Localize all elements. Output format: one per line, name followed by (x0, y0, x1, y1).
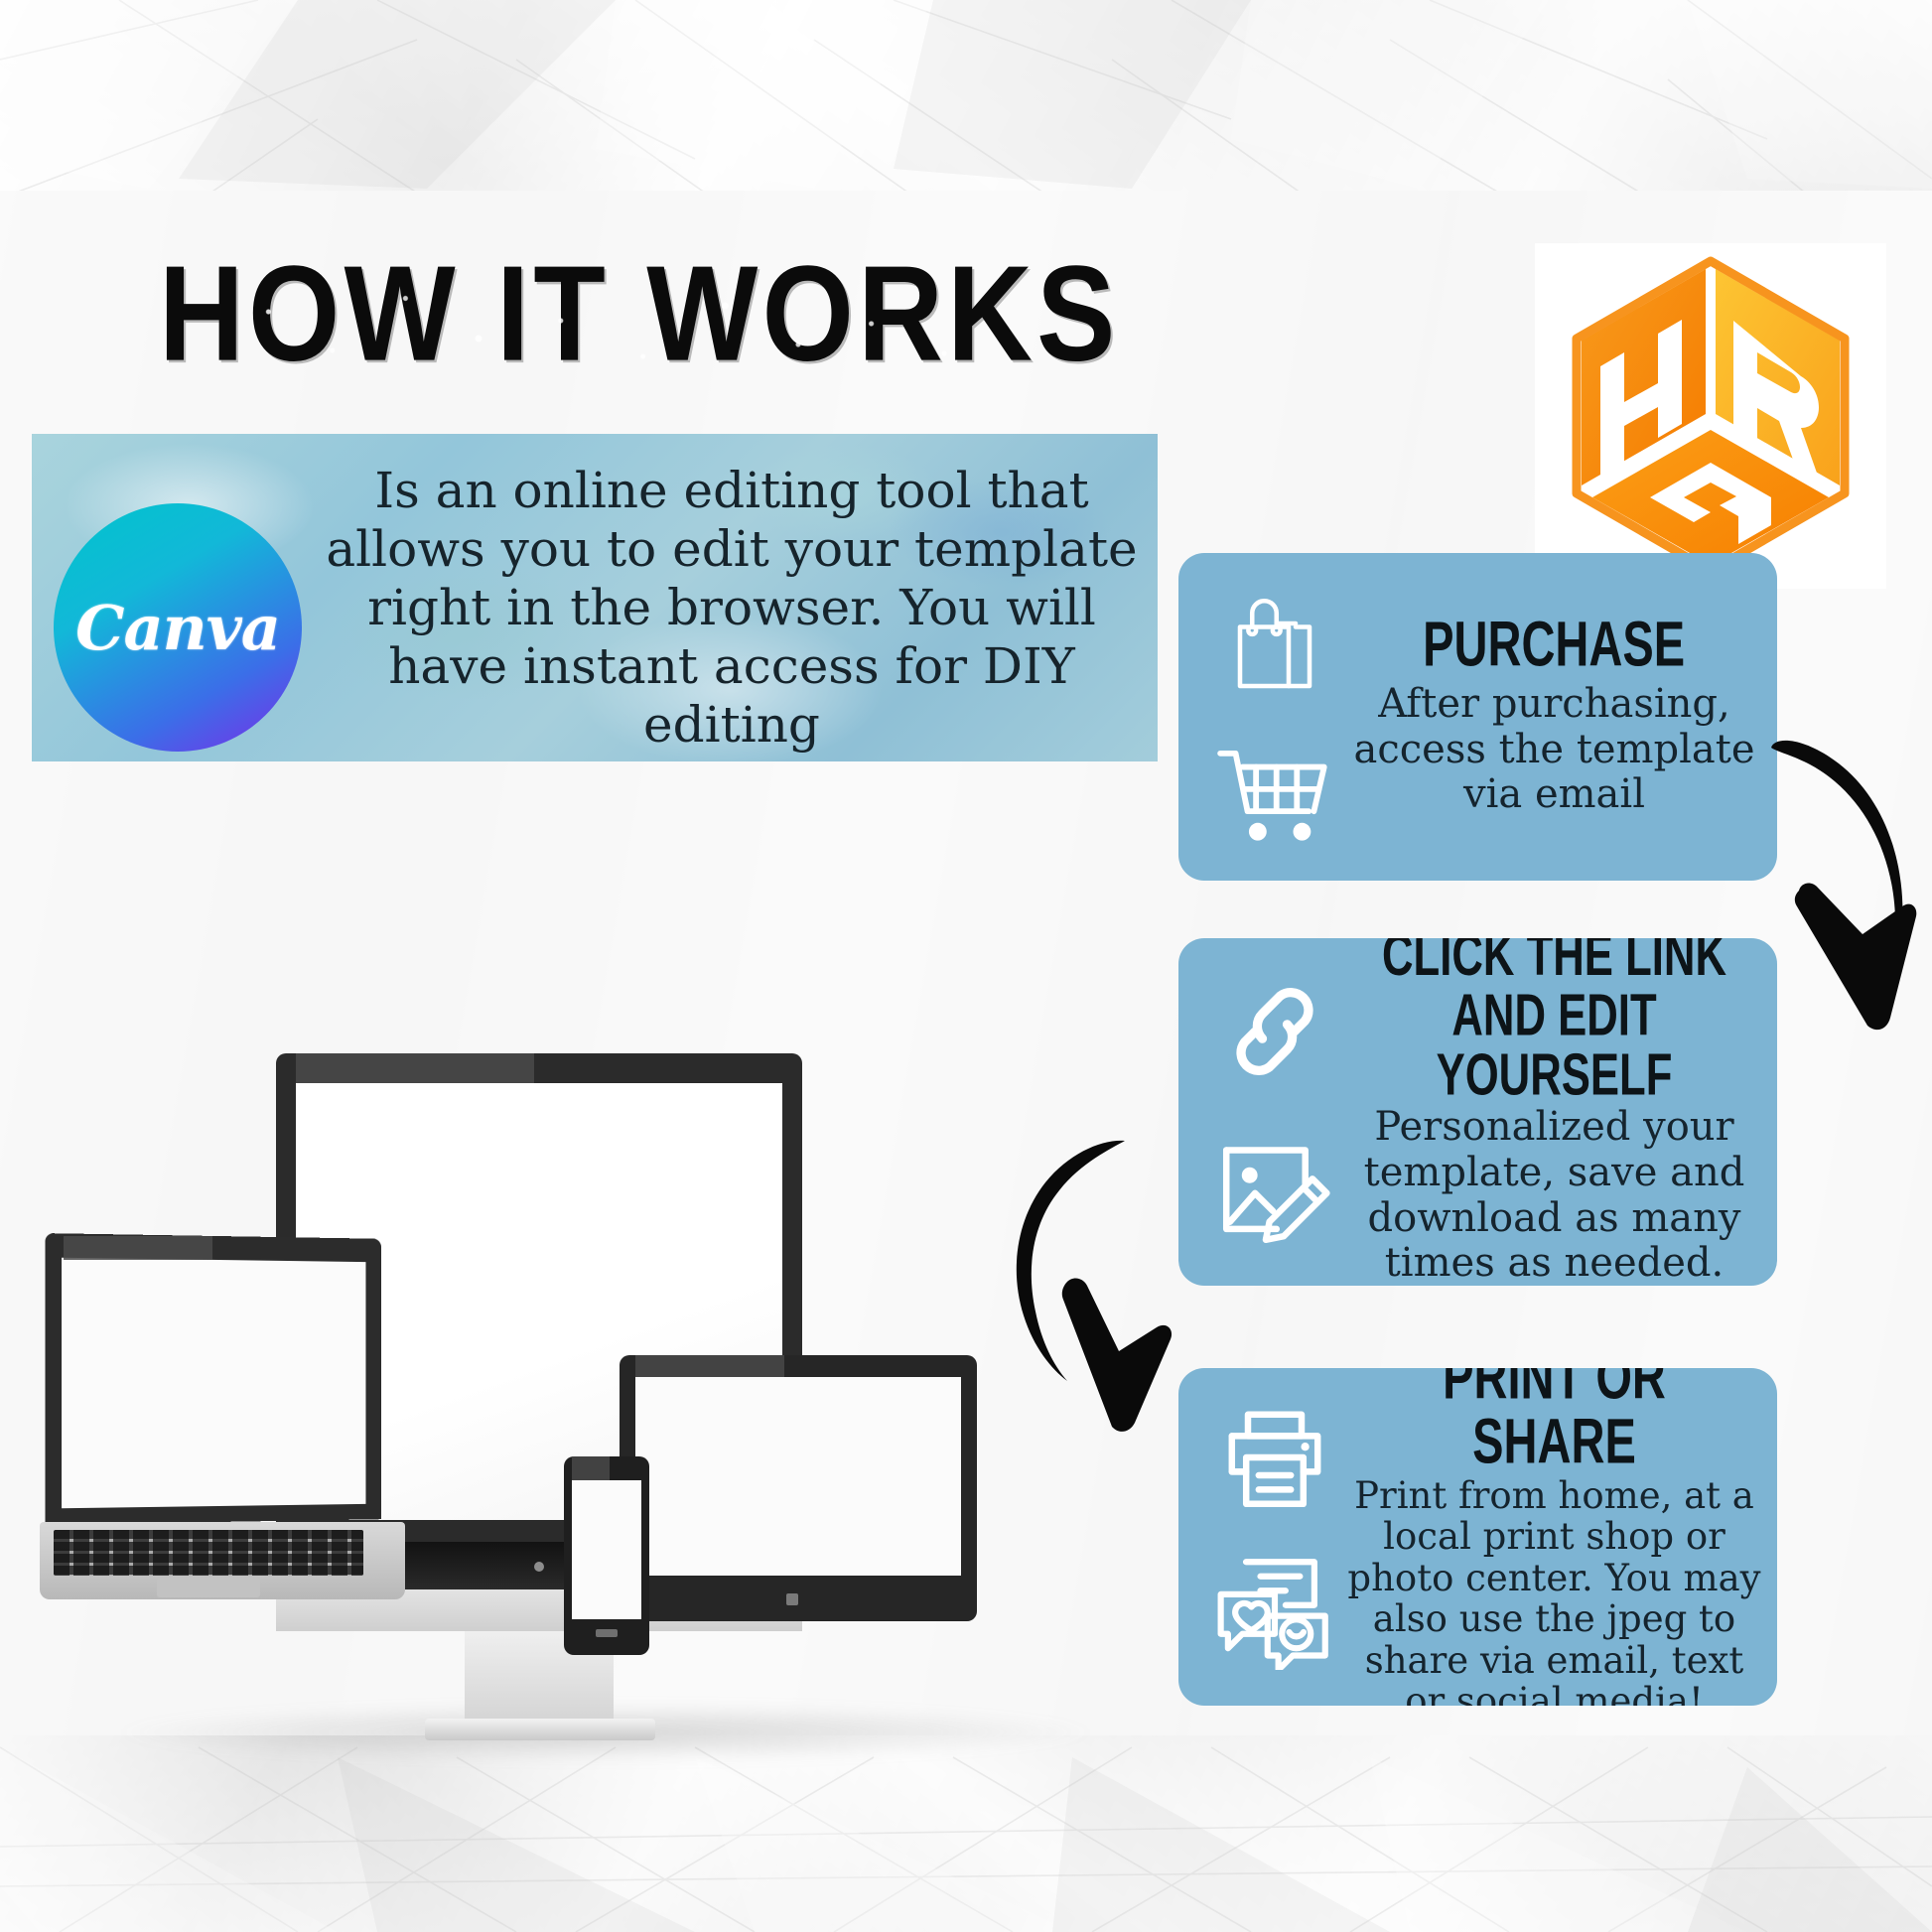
purchase-heading: PURCHASE (1424, 612, 1686, 676)
laptop-keyboard (54, 1530, 363, 1576)
monitor-top-reflection (296, 1053, 534, 1083)
monitor-logo-dot (534, 1562, 544, 1572)
purchase-body: After purchasing, access the template vi… (1345, 682, 1763, 818)
step-card-click-edit[interactable]: CLICK THE LINK AND EDIT YOURSELF Persona… (1178, 938, 1777, 1286)
laptop-screen (62, 1258, 365, 1509)
print-share-icons (1200, 1382, 1349, 1692)
print-share-body: Print from home, at a local print shop o… (1345, 1475, 1763, 1706)
devices-illustration (40, 1047, 1102, 1603)
print-share-heading: PRINT OR SHARE (1379, 1368, 1730, 1473)
curved-arrow-down-icon (1765, 730, 1932, 1037)
click-edit-text: CLICK THE LINK AND EDIT YOURSELF Persona… (1345, 948, 1763, 1276)
click-edit-heading: CLICK THE LINK AND EDIT YOURSELF (1379, 938, 1730, 1106)
phone-top-reflection (572, 1456, 610, 1480)
shopping-bag-icon (1219, 589, 1330, 700)
arrow-purchase-to-click (1765, 730, 1932, 1037)
print-share-text: PRINT OR SHARE Print from home, at a loc… (1345, 1378, 1763, 1696)
canva-description: Is an online editing tool that allows yo… (320, 462, 1144, 755)
printer-icon (1216, 1404, 1333, 1511)
canva-logo-label: Canva (54, 503, 302, 752)
tablet-home-button (786, 1593, 798, 1605)
tablet-top-reflection (635, 1355, 784, 1377)
link-chain-icon (1216, 978, 1333, 1085)
tablet-screen (635, 1377, 961, 1576)
step-card-print-share[interactable]: PRINT OR SHARE Print from home, at a loc… (1178, 1368, 1777, 1706)
laptop-top-reflection (64, 1236, 212, 1260)
click-edit-icons (1200, 952, 1349, 1272)
share-chat-icon (1213, 1555, 1336, 1670)
canva-info-panel: Canva Is an online editing tool that all… (32, 434, 1158, 761)
image-edit-pencil-icon (1215, 1136, 1334, 1247)
infographic-canvas: HOW IT WORKS (0, 0, 1932, 1932)
click-edit-body: Personalized your template, save and dow… (1345, 1105, 1763, 1286)
step-card-purchase[interactable]: PURCHASE After purchasing, access the te… (1178, 553, 1777, 881)
purchase-icons (1200, 567, 1349, 867)
purchase-text: PURCHASE After purchasing, access the te… (1345, 563, 1763, 871)
canva-logo-circle: Canva (54, 503, 302, 752)
phone-home-button (596, 1629, 618, 1637)
monitor-base (425, 1719, 655, 1740)
laptop-trackpad (157, 1578, 260, 1597)
page-title: HOW IT WORKS (159, 246, 1106, 382)
phone-screen (572, 1480, 641, 1619)
hrg-cube-icon (1535, 243, 1886, 589)
shopping-cart-icon (1215, 743, 1334, 846)
brand-logo (1535, 243, 1886, 589)
